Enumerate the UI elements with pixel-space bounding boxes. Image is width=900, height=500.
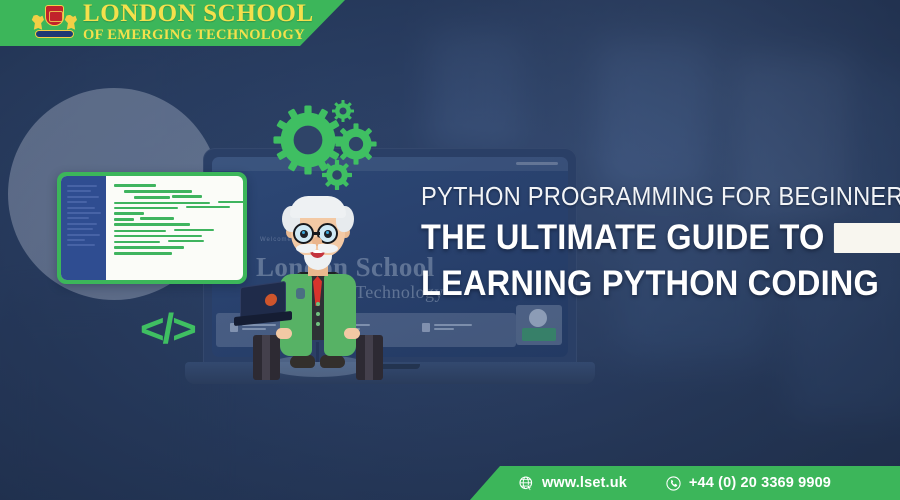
professor-character <box>258 192 378 382</box>
character-mustache-right <box>318 244 338 253</box>
character-hand-right <box>344 328 360 339</box>
gear-medium-icon <box>335 123 377 165</box>
crest-ribbon-icon <box>35 30 74 38</box>
headline-block: PYTHON PROGRAMMING FOR BEGINNERS THE ULT… <box>421 183 900 303</box>
mini-laptop <box>234 284 292 330</box>
brand-wordmark: LONDON SCHOOL OF EMERGING TECHNOLOGY <box>83 1 314 43</box>
character-mustache-left <box>296 244 316 253</box>
feature-icon <box>422 323 430 332</box>
crest-lion-left-icon <box>31 15 44 30</box>
card-cta-button <box>522 328 556 341</box>
avatar <box>529 309 547 327</box>
banner-stage: LONDON SCHOOL OF EMERGING TECHNOLOGY Wel… <box>0 0 900 500</box>
headline-kicker: PYTHON PROGRAMMING FOR BEGINNERS <box>421 183 900 212</box>
laptop-screen-topbar <box>212 157 568 171</box>
character-hair <box>290 196 346 218</box>
briefcase-left <box>253 335 280 380</box>
code-symbol-icon: </> <box>140 305 195 353</box>
headline-line1-row: THE ULTIMATE GUIDE TO <box>421 218 900 257</box>
headline-line1: THE ULTIMATE GUIDE TO <box>421 218 825 257</box>
laptop-screen-profile-card <box>516 305 562 345</box>
lset-crest-icon <box>28 3 80 41</box>
crest-shield-icon <box>45 5 64 26</box>
crest-lion-right-icon <box>64 15 77 30</box>
character-shoe-left <box>290 355 315 368</box>
footer-website[interactable]: www.lset.uk <box>518 475 627 492</box>
footer-phone-text: +44 (0) 20 3369 9909 <box>689 475 831 491</box>
headline-highlight-block <box>834 223 900 253</box>
code-editor-lines <box>106 176 243 280</box>
gear-small-icon <box>332 100 354 122</box>
briefcase-right <box>356 335 383 380</box>
character-glasses-left-icon <box>293 223 314 244</box>
character-jacket-right <box>324 274 356 356</box>
code-editor-sidebar <box>61 176 106 280</box>
character-shoe-right <box>320 355 345 368</box>
gear-tiny-icon <box>322 160 352 190</box>
footer-green-band: www.lset.uk +44 (0) 20 3369 9909 <box>470 466 900 500</box>
code-editor-card <box>57 172 247 284</box>
brand-name-line1: LONDON SCHOOL <box>83 1 314 26</box>
brand-logo[interactable]: LONDON SCHOOL OF EMERGING TECHNOLOGY <box>28 1 314 43</box>
character-lapel-badge-icon <box>296 288 305 299</box>
laptop-feature-item <box>422 323 472 332</box>
headline-line2: LEARNING PYTHON CODING <box>421 264 900 303</box>
globe-icon <box>518 475 535 492</box>
brand-name-line2: OF EMERGING TECHNOLOGY <box>83 28 314 43</box>
mini-laptop-logo-icon <box>265 293 277 307</box>
phone-icon <box>665 475 682 492</box>
footer-website-text: www.lset.uk <box>542 475 627 491</box>
footer-phone[interactable]: +44 (0) 20 3369 9909 <box>665 475 831 492</box>
